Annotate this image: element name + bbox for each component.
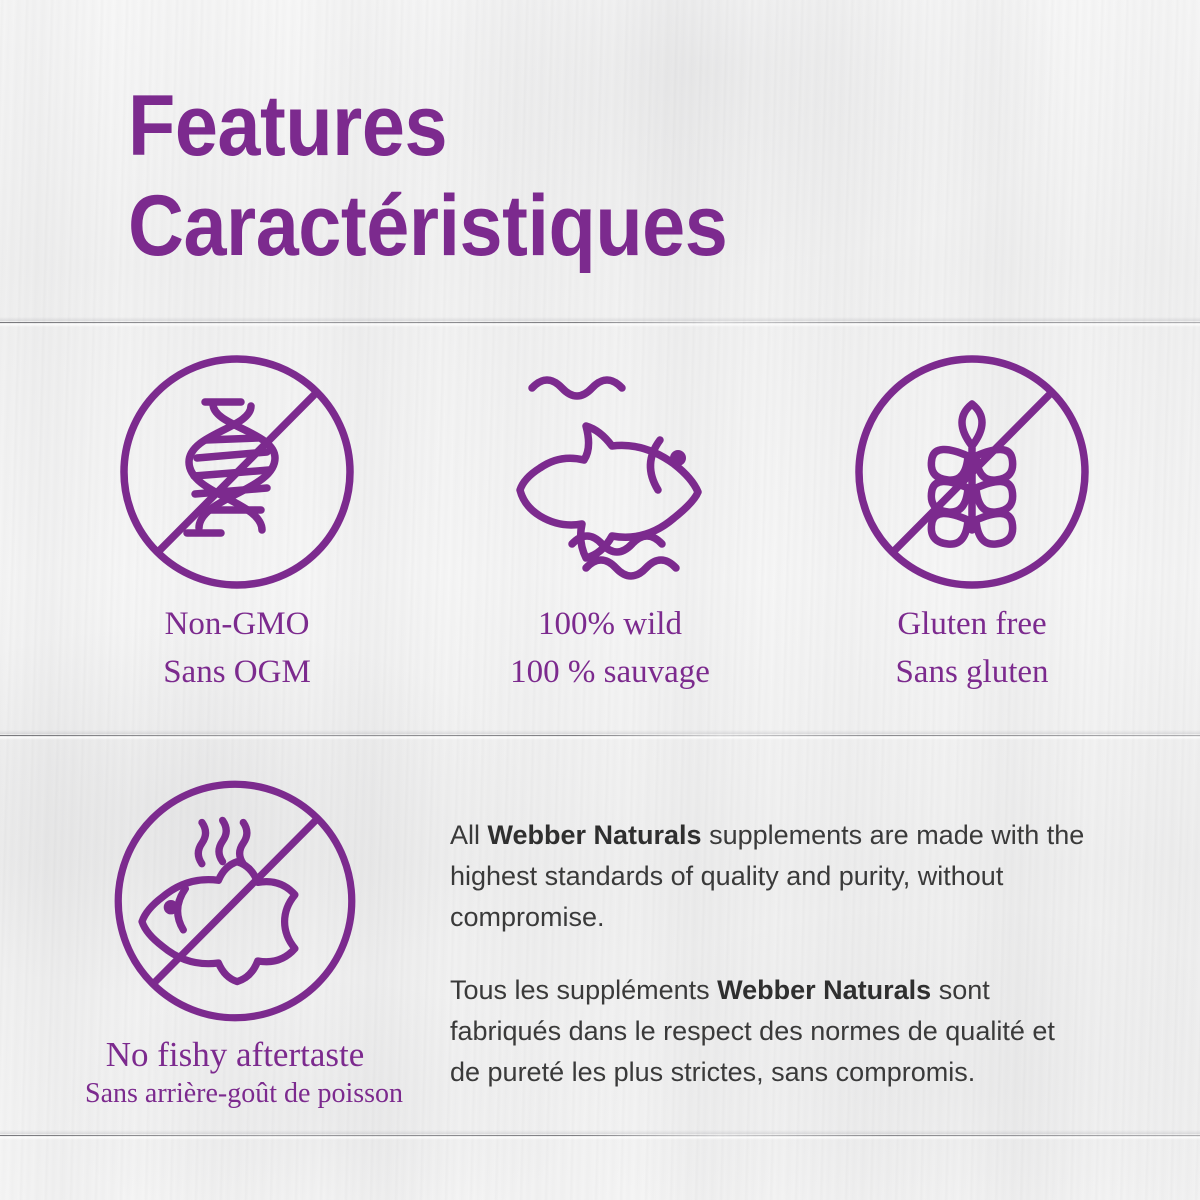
feature-row-top: Non-GMO Sans OGM 10	[0, 348, 1200, 688]
no-gmo-dna-icon	[87, 348, 387, 596]
feature-label-fr: Sans OGM	[87, 652, 387, 692]
title-line-en: Features	[128, 76, 938, 176]
feature-label-fr: 100 % sauvage	[460, 652, 760, 692]
feature-no-fishy-aftertaste: No fishy aftertaste Sans arrière-goût de…	[85, 770, 385, 1112]
feature-label-en: No fishy aftertaste	[85, 1034, 385, 1076]
no-gluten-wheat-icon	[822, 348, 1122, 596]
quality-statement-en: All Webber Naturals supplements are made…	[450, 815, 1090, 938]
plank-seam	[0, 321, 1200, 324]
copy-fr-before: Tous les suppléments	[450, 975, 717, 1005]
feature-label-en: 100% wild	[460, 604, 760, 644]
plank-seam	[0, 734, 1200, 737]
copy-en-before: All	[450, 820, 488, 850]
wild-fish-icon	[460, 348, 760, 596]
feature-gluten-free: Gluten free Sans gluten	[822, 348, 1122, 692]
title-line-fr: Caractéristiques	[128, 176, 938, 276]
feature-label-fr: Sans gluten	[822, 652, 1122, 692]
plank-seam	[0, 1134, 1200, 1137]
feature-wild: 100% wild 100 % sauvage	[460, 348, 760, 692]
brand-name: Webber Naturals	[488, 820, 702, 850]
infographic-canvas: Features Caractéristiques	[0, 0, 1200, 1200]
brand-name: Webber Naturals	[717, 975, 931, 1005]
quality-statement-fr: Tous les suppléments Webber Naturals son…	[450, 970, 1090, 1093]
feature-label-en: Gluten free	[822, 604, 1122, 644]
feature-non-gmo: Non-GMO Sans OGM	[87, 348, 387, 692]
no-fishy-aftertaste-icon	[85, 770, 385, 1032]
feature-label-fr: Sans arrière-goût de poisson	[85, 1076, 385, 1112]
quality-statement: All Webber Naturals supplements are made…	[450, 815, 1090, 1093]
feature-label-en: Non-GMO	[87, 604, 387, 644]
page-title: Features Caractéristiques	[128, 76, 1028, 276]
